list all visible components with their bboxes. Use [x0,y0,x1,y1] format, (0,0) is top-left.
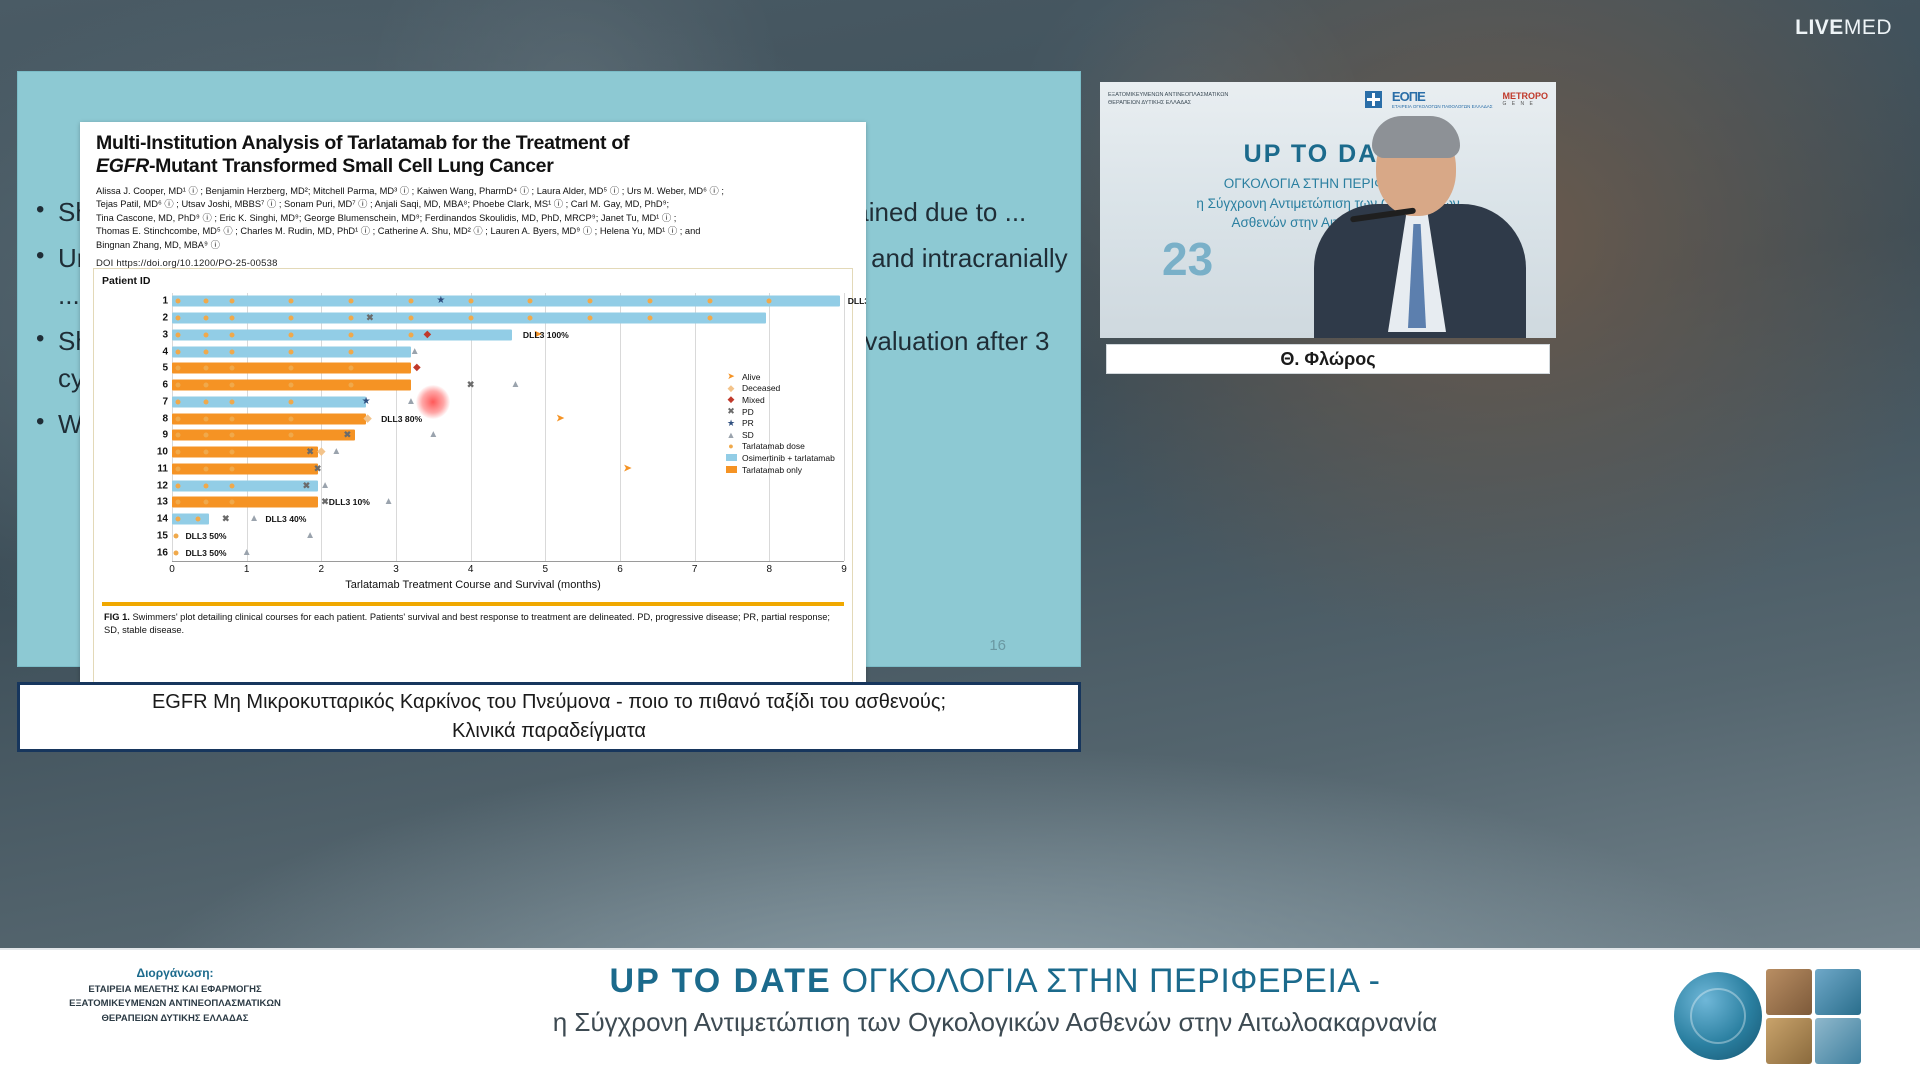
tarlatamab-dose-marker [289,299,294,304]
chart-row-label: 9 [148,430,168,441]
footer-organizer-block: Διοργάνωση: ΕΤΑΙΡΕΙΑ ΜΕΛΕΤΗΣ ΚΑΙ ΕΦΑΡΜΟΓ… [30,966,320,1026]
tarlatamab-dose-marker [229,433,234,438]
tarlatamab-dose-marker [175,366,180,371]
paper-title-line2: -Mutant Transformed Small Cell Lung Canc… [149,155,554,177]
tarlatamab-dose-marker [289,366,294,371]
tarlatamab-dose-marker [588,299,593,304]
author-line-3: Tina Cascone, MD, PhD⁹ ⓘ ; Eric K. Singh… [96,212,850,226]
chart-x-tick: 9 [841,564,847,575]
chart-event-marker-sd: ▲ [242,548,252,558]
chart-event-marker-sd: ▲ [428,430,438,440]
page-footer: Διοργάνωση: ΕΤΑΙΡΕΙΑ ΜΕΛΕΤΗΣ ΚΑΙ ΕΦΑΡΜΟΓ… [0,948,1920,1080]
chart-dll3-annotation: DLL3 40% [265,514,306,524]
chart-event-marker-alive: ➤ [556,413,565,424]
chart-event-marker-sd: ▲ [320,481,330,491]
chart-event-marker-mixed: ◆ [424,330,432,340]
chart-event-marker-pd: ✖ [321,498,329,507]
chart-event-marker-pd: ✖ [366,314,374,323]
tarlatamab-dose-marker [349,349,354,354]
tarlatamab-dose-marker [175,450,180,455]
presentation-slide[interactable]: •She was treated with osimertinib for 18… [17,71,1081,667]
tarlatamab-dose-marker [707,299,712,304]
bullet-dot-icon: • [36,323,58,397]
chart-event-marker-sd: ▲ [331,447,341,457]
globe-icon [1674,972,1762,1060]
tarlatamab-dose-marker [528,299,533,304]
chart-legend: ➤Alive◆Deceased◆Mixed✖PD★PR▲SD●Tarlatama… [724,371,835,475]
tarlatamab-dose-marker [588,316,593,321]
slide-page-number: 16 [989,637,1006,654]
legend-label: Alive [742,372,760,382]
tarlatamab-dose-marker [289,316,294,321]
legend-item: Osimertinib + tarlatamab [724,452,835,464]
legend-symbol-arrow-icon: ➤ [724,371,738,382]
legend-item: ✖PD [724,406,835,418]
chart-x-tick: 2 [319,564,325,575]
chart-x-tick: 6 [617,564,623,575]
author-line-5: Bingnan Zhang, MD, MBA⁹ ⓘ [96,239,850,253]
tarlatamab-dose-marker [229,416,234,421]
tarlatamab-dose-marker [408,332,413,337]
chart-row-label: 2 [148,313,168,324]
tarlatamab-dose-marker [203,433,208,438]
legend-symbol-bar-icon [724,453,738,463]
footer-thumb-1 [1766,969,1812,1015]
tarlatamab-dose-marker [349,316,354,321]
video-logo-left-line2: ΘΕΡΑΠΕΙΩΝ ΔΥΤΙΚΗΣ ΕΛΛΑΔΑΣ [1108,99,1228,107]
chart-row-label: 3 [148,329,168,340]
chart-bar [172,480,318,491]
author-line-4: Thomas E. Stinchcombe, MD⁵ ⓘ ; Charles M… [96,225,850,239]
tarlatamab-dose-marker [289,399,294,404]
paper-header: Multi-Institution Analysis of Tarlatamab… [80,122,866,275]
chart-bar [172,296,840,307]
legend-symbol-triangle-icon: ▲ [724,430,738,440]
footer-thumb-2 [1815,969,1861,1015]
tarlatamab-dose-marker [203,366,208,371]
paper-title-italic: EGFR [96,155,149,177]
chart-gridline [695,293,696,561]
paper-author-list: Alissa J. Cooper, MD¹ ⓘ ; Benjamin Herzb… [96,185,850,253]
eope-logo: ΕΟΠΕ ΕΤΑΙΡΕΙΑ ΟΓΚΟΛΟΓΩΝ ΠΑΘΟΛΟΓΩΝ ΕΛΛΑΔΑ… [1392,89,1493,109]
tarlatamab-dose-marker [203,399,208,404]
legend-label: PD [742,407,754,417]
chart-event-marker-deceased: ◆ [363,413,371,424]
chart-dll3-annotation: DLL3 10% [329,497,370,507]
chart-row-label: 7 [148,396,168,407]
tarlatamab-dose-marker [175,383,180,388]
tarlatamab-dose-marker [229,366,234,371]
tarlatamab-dose-marker [229,383,234,388]
tarlatamab-dose-marker [175,332,180,337]
footer-title-big: UP TO DATE [610,962,832,1000]
speaker-name-bar: Θ. Φλώρος [1106,344,1550,374]
caption-line-1: EGFR Μη Μικροκυτταρικός Καρκίνος του Πνε… [152,688,946,717]
tarlatamab-dose-marker [468,316,473,321]
tarlatamab-dose-marker [229,316,234,321]
footer-thumb-4 [1815,1018,1861,1064]
tarlatamab-dose-marker [203,450,208,455]
tarlatamab-dose-marker [203,383,208,388]
speaker-video-panel[interactable]: ΕΞΑΤΟΜΙΚΕΥΜΕΝΩΝ ΑΝΤΙΝΕΟΠΛΑΣΜΑΤΙΚΩΝ ΘΕΡΑΠ… [1100,82,1556,338]
legend-symbol-square-icon: ✖ [724,406,738,417]
tarlatamab-dose-marker [289,383,294,388]
chart-bar [172,430,355,441]
chart-row-label: 12 [148,480,168,491]
chart-event-marker-pr: ★ [436,296,445,306]
tarlatamab-dose-marker [229,332,234,337]
tarlatamab-dose-marker [349,299,354,304]
chart-gridline [620,293,621,561]
legend-symbol-dot-icon: ● [724,441,738,451]
chart-x-tick: 0 [169,564,175,575]
tarlatamab-dose-marker [175,349,180,354]
tarlatamab-dose-marker [175,316,180,321]
legend-label: Mixed [742,395,765,405]
chart-event-marker-sd: ▲ [406,397,416,407]
tarlatamab-dose-marker [289,349,294,354]
chart-event-marker-pd: ✖ [344,431,352,440]
tarlatamab-dose-marker [175,517,180,522]
chart-row-label: 16 [148,547,168,558]
chart-x-tick: 5 [543,564,549,575]
video-logo-strip: ΕΞΑΤΟΜΙΚΕΥΜΕΝΩΝ ΑΝΤΙΝΕΟΠΛΑΣΜΑΤΙΚΩΝ ΘΕΡΑΠ… [1100,86,1556,112]
tarlatamab-dose-marker [289,416,294,421]
author-line-2: Tejas Patil, MD⁶ ⓘ ; Utsav Joshi, MBBS⁷ … [96,198,850,212]
figure-caption-label: FIG 1. [104,612,130,622]
video-logo-left-line1: ΕΞΑΤΟΜΙΚΕΥΜΕΝΩΝ ΑΝΤΙΝΕΟΠΛΑΣΜΑΤΙΚΩΝ [1108,91,1228,99]
tarlatamab-dose-marker [229,349,234,354]
chart-dll3-annotation: DLL3 100% [848,296,866,306]
chart-event-marker-deceased: ◆ [317,447,325,458]
chart-dll3-annotation: DLL3 50% [185,548,226,558]
chart-y-axis-label: Patient ID [102,275,150,287]
footer-organizer-lines: ΕΤΑΙΡΕΙΑ ΜΕΛΕΤΗΣ ΚΑΙ ΕΦΑΡΜΟΓΗΣ ΕΞΑΤΟΜΙΚΕ… [30,983,320,1026]
legend-item: ◆Deceased [724,383,835,395]
chart-bar [172,447,318,458]
legend-label: Deceased [742,383,780,393]
chart-event-marker-pd: ✖ [314,464,322,473]
chart-row-label: 4 [148,346,168,357]
tarlatamab-dose-marker [349,332,354,337]
chart-x-tick: 3 [393,564,399,575]
tarlatamab-dose-marker [173,550,178,555]
chart-x-tick: 7 [692,564,698,575]
tarlatamab-dose-marker [468,299,473,304]
chart-bar [172,396,366,407]
footer-event-title-block: UP TO DATE ΟΓΚΟΛΟΓΙΑ ΣΤΗΝ ΠΕΡΙΦΕΡΕΙΑ - η… [330,962,1660,1038]
speaker-name: Θ. Φλώρος [1280,349,1375,370]
tarlatamab-dose-marker [349,383,354,388]
figure-caption-text: Swimmers' plot detailing clinical course… [104,612,830,635]
chart-dll3-annotation: DLL3 80% [381,414,422,424]
figure-caption: FIG 1. Swimmers' plot detailing clinical… [104,611,842,637]
chart-gridline [844,293,845,561]
chart-row-label: 1 [148,296,168,307]
chart-event-marker-pd: ✖ [467,381,475,390]
footer-organizer-label: Διοργάνωση: [30,966,320,980]
tarlatamab-dose-marker [408,299,413,304]
metropolitan-logo: METROPO G E N E [1502,91,1548,107]
chart-row-label: 5 [148,363,168,374]
legend-item: ◆Mixed [724,394,835,406]
tarlatamab-dose-marker [229,450,234,455]
legend-symbol-star-icon: ★ [724,418,738,429]
metropolitan-logo-text: METROPO [1502,91,1548,101]
footer-org-line2: ΕΞΑΤΟΜΙΚΕΥΜΕΝΩΝ ΑΝΤΙΝΕΟΠΛΑΣΜΑΤΙΚΩΝ [30,997,320,1011]
paper-title-line1: Multi-Institution Analysis of Tarlatamab… [96,132,629,154]
tarlatamab-dose-marker [175,416,180,421]
tarlatamab-dose-marker [767,299,772,304]
slide-caption-inner: EGFR Μη Μικροκυτταρικός Καρκίνος του Πνε… [20,685,1078,749]
chart-event-marker-pr: ★ [362,397,371,407]
figure-divider-rule [102,602,844,606]
tarlatamab-dose-marker [289,433,294,438]
footer-org-line3: ΘΕΡΑΠΕΙΩΝ ΔΥΤΙΚΗΣ ΕΛΛΑΔΑΣ [30,1012,320,1026]
footer-subtitle: η Σύγχρονη Αντιμετώπιση των Ογκολογικών … [330,1007,1660,1038]
legend-label: PR [742,418,754,428]
footer-imagery-block [1674,964,1884,1068]
livemed-logo: LIVEMED [1795,16,1892,40]
chart-event-marker-sd: ▲ [410,347,420,357]
bullet-dot-icon: • [36,240,58,314]
tarlatamab-dose-marker [203,416,208,421]
chart-row-label: 15 [148,530,168,541]
bullet-dot-icon: • [36,194,58,231]
medical-cross-icon [1365,91,1382,108]
footer-thumb-3 [1766,1018,1812,1064]
legend-symbol-circle-icon: ◆ [724,383,738,394]
video-overlay-number: 23 [1162,232,1213,286]
chart-x-tick: 1 [244,564,250,575]
chart-bar [172,463,318,474]
tarlatamab-dose-marker [707,316,712,321]
journal-article-figure: Multi-Institution Analysis of Tarlatamab… [80,122,866,704]
legend-symbol-diamond-icon: ◆ [724,394,738,405]
speaker-hair [1372,116,1460,158]
paper-title: Multi-Institution Analysis of Tarlatamab… [96,132,850,178]
tarlatamab-dose-marker [229,399,234,404]
metropolitan-logo-subtext: G E N E [1502,101,1548,107]
tarlatamab-dose-marker [175,433,180,438]
speaker-figure [1314,120,1526,338]
legend-label: Tarlatamab dose [742,441,805,451]
eope-logo-subtext: ΕΤΑΙΡΕΙΑ ΟΓΚΟΛΟΓΩΝ ΠΑΘΟΛΟΓΩΝ ΕΛΛΑΔΑΣ [1392,104,1493,109]
chart-x-tick: 8 [767,564,773,575]
chart-event-marker-mixed: ◆ [413,363,421,373]
tarlatamab-dose-marker [528,316,533,321]
tarlatamab-dose-marker [647,299,652,304]
tarlatamab-dose-marker [175,500,180,505]
eope-logo-text: ΕΟΠΕ [1392,89,1425,104]
tarlatamab-dose-marker [229,500,234,505]
chart-bar [172,497,318,508]
tarlatamab-dose-marker [229,483,234,488]
legend-item: ➤Alive [724,371,835,383]
chart-event-marker-alive: ➤ [623,463,632,474]
tarlatamab-dose-marker [173,533,178,538]
chart-x-axis-label: Tarlatamab Treatment Course and Survival… [94,579,852,591]
tarlatamab-dose-marker [175,466,180,471]
chart-event-marker-sd: ▲ [511,380,521,390]
legend-item: ●Tarlatamab dose [724,441,835,453]
chart-row-label: 14 [148,514,168,525]
tarlatamab-dose-marker [175,299,180,304]
tarlatamab-dose-marker [229,299,234,304]
chart-event-marker-sd: ▲ [305,531,315,541]
tarlatamab-dose-marker [289,332,294,337]
legend-item: Tarlatamab only [724,464,835,476]
tarlatamab-dose-marker [196,517,201,522]
footer-title-line: UP TO DATE ΟΓΚΟΛΟΓΙΑ ΣΤΗΝ ΠΕΡΙΦΕΡΕΙΑ - [330,962,1660,1001]
tarlatamab-dose-marker [229,466,234,471]
legend-label: SD [742,430,754,440]
tarlatamab-dose-marker [203,483,208,488]
video-logo-left-text: ΕΞΑΤΟΜΙΚΕΥΜΕΝΩΝ ΑΝΤΙΝΕΟΠΛΑΣΜΑΤΙΚΩΝ ΘΕΡΑΠ… [1108,91,1228,108]
chart-x-axis: 0123456789 [172,561,844,577]
chart-event-marker-pd: ✖ [306,448,314,457]
footer-title-rest: ΟΓΚΟΛΟΓΙΑ ΣΤΗΝ ΠΕΡΙΦΕΡΕΙΑ - [842,962,1381,1000]
legend-label: Osimertinib + tarlatamab [742,453,835,463]
chart-row-label: 11 [148,463,168,474]
chart-row-label: 13 [148,497,168,508]
chart-x-tick: 4 [468,564,474,575]
chart-row-label: 10 [148,447,168,458]
slide-caption-bar: EGFR Μη Μικροκυτταρικός Καρκίνος του Πνε… [17,682,1081,752]
legend-label: Tarlatamab only [742,465,802,475]
chart-event-marker-sd: ▲ [249,514,259,524]
footer-org-line1: ΕΤΑΙΡΕΙΑ ΜΕΛΕΤΗΣ ΚΑΙ ΕΦΑΡΜΟΓΗΣ [30,983,320,997]
legend-item: ▲SD [724,429,835,441]
tarlatamab-dose-marker [203,466,208,471]
chart-event-marker-pd: ✖ [303,481,311,490]
bullet-dot-icon: • [36,406,58,443]
chart-bar [172,413,366,424]
caption-line-2: Κλινικά παραδείγματα [152,717,946,746]
tarlatamab-dose-marker [203,299,208,304]
tarlatamab-dose-marker [175,483,180,488]
chart-dll3-annotation: DLL3 100% [523,330,569,340]
figure-box: Patient ID 1★DLL3 100%2✖3◆➤DLL3 100%4▲5◆… [93,268,853,696]
tarlatamab-dose-marker [203,316,208,321]
chart-bar [172,329,512,340]
tarlatamab-dose-marker [175,399,180,404]
legend-item: ★PR [724,417,835,429]
livemed-live-text: LIVE [1795,16,1844,39]
tarlatamab-dose-marker [203,349,208,354]
chart-event-marker-pd: ✖ [222,515,230,524]
chart-dll3-annotation: DLL3 50% [185,531,226,541]
tarlatamab-dose-marker [203,500,208,505]
footer-thumbnail-grid [1766,969,1866,1064]
chart-row-label: 8 [148,413,168,424]
tarlatamab-dose-marker [408,316,413,321]
legend-symbol-bar-icon [724,465,738,475]
tarlatamab-dose-marker [647,316,652,321]
tarlatamab-dose-marker [203,332,208,337]
author-line-1: Alissa J. Cooper, MD¹ ⓘ ; Benjamin Herzb… [96,185,850,199]
chart-row-label: 6 [148,380,168,391]
tarlatamab-dose-marker [349,366,354,371]
livemed-med-text: MED [1844,16,1892,39]
chart-event-marker-sd: ▲ [384,497,394,507]
